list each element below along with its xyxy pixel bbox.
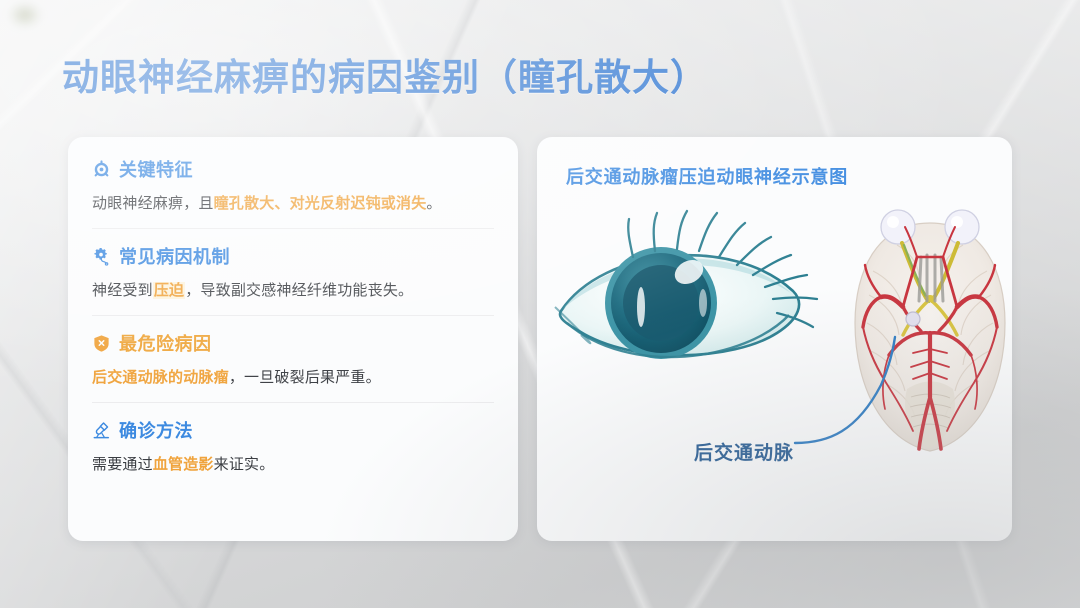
text-run: 。 — [426, 195, 441, 212]
highlight-text: 压迫 — [153, 282, 185, 299]
key-points-card: 关键特征 动眼神经麻痹，且瞳孔散大、对光反射迟钝或消失。 常见病因机制 — [68, 137, 518, 541]
eye-highlight-small — [637, 287, 645, 327]
text-run: 需要通过 — [92, 456, 153, 473]
eye-illustration — [555, 211, 817, 359]
diagram-title: 后交通动脉瘤压迫动眼神经示意图 — [566, 163, 848, 189]
section-key-features: 关键特征 动眼神经麻痹，且瞳孔散大、对光反射迟钝或消失。 — [92, 156, 494, 228]
highlight-text: 后交通动脉的动脉瘤 — [92, 369, 229, 386]
eye-icon — [92, 160, 111, 179]
text-run: 神经受到 — [92, 282, 153, 299]
text-run: ，导致副交感神经纤维功能丧失。 — [185, 282, 413, 299]
section-common-mechanism: 常见病因机制 神经受到压迫，导致副交感神经纤维功能丧失。 — [92, 228, 494, 315]
sections-list: 关键特征 动眼神经麻痹，且瞳孔散大、对光反射迟钝或消失。 常见病因机制 — [68, 137, 518, 489]
gear-icon — [92, 247, 111, 266]
text-run: 来证实。 — [214, 456, 275, 473]
figure-svg — [537, 195, 1012, 541]
diagram-card: 后交通动脉瘤压迫动眼神经示意图 — [537, 137, 1012, 541]
highlight-text: 瞳孔散大、对光反射迟钝或消失 — [214, 195, 427, 212]
aneurysm — [906, 312, 920, 326]
section-body: 神经受到压迫，导致副交感神经纤维功能丧失。 — [92, 278, 494, 304]
section-title: 关键特征 — [119, 156, 193, 182]
text-run: 动眼神经麻痹，且 — [92, 195, 214, 212]
eyeball-highlight — [951, 216, 963, 228]
text-run: ，一旦破裂后果严重。 — [229, 369, 381, 386]
section-header: 最危险病因 — [92, 330, 494, 356]
callout-label-posterior-communicating-artery: 后交通动脉 — [694, 438, 794, 465]
brain-illustration — [855, 210, 1005, 451]
section-title: 最危险病因 — [119, 330, 212, 356]
section-body: 需要通过血管造影来证实。 — [92, 452, 494, 478]
page-title: 动眼神经麻痹的病因鉴别（瞳孔散大） — [62, 47, 708, 101]
section-most-dangerous-cause: 最危险病因 后交通动脉的动脉瘤，一旦破裂后果严重。 — [92, 315, 494, 402]
section-header: 常见病因机制 — [92, 243, 494, 269]
microscope-icon — [92, 421, 111, 440]
section-diagnosis-method: 确诊方法 需要通过血管造影来证实。 — [92, 402, 494, 489]
shield-x-icon — [92, 334, 111, 353]
slide-canvas: 动眼神经麻痹的病因鉴别（瞳孔散大） 关键特征 动眼神经麻痹，且瞳孔散大、对光反射… — [0, 0, 1080, 608]
section-header: 确诊方法 — [92, 417, 494, 443]
section-header: 关键特征 — [92, 156, 494, 182]
eyeball-highlight — [887, 216, 899, 228]
eye-highlight-small — [699, 289, 707, 317]
background-smudge — [8, 2, 42, 28]
section-title: 确诊方法 — [119, 417, 193, 443]
highlight-text: 血管造影 — [153, 456, 214, 473]
section-body: 后交通动脉的动脉瘤，一旦破裂后果严重。 — [92, 365, 494, 391]
section-title: 常见病因机制 — [119, 243, 230, 269]
section-body: 动眼神经麻痹，且瞳孔散大、对光反射迟钝或消失。 — [92, 191, 494, 217]
anatomy-figure: 后交通动脉 — [537, 195, 1012, 541]
